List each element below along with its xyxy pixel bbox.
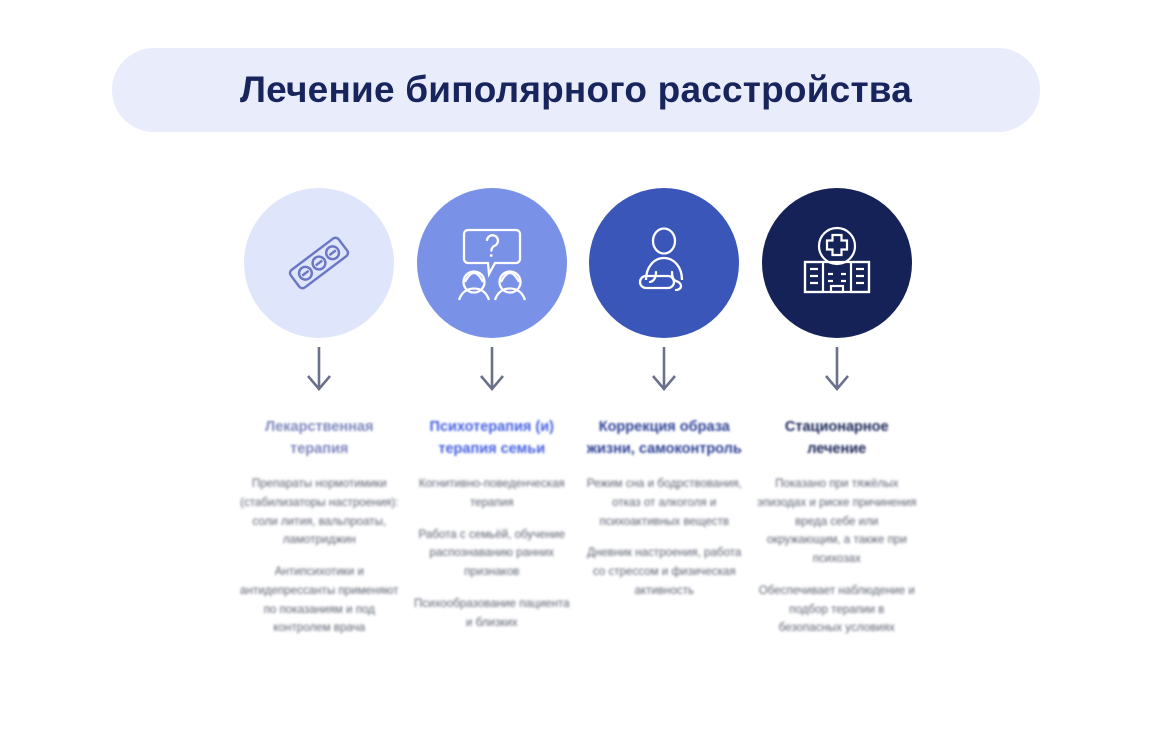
- column-heading-psychotherapy: Психотерапия (и) терапия семьи: [412, 416, 572, 461]
- page-title: Лечение биполярного расстройства: [240, 69, 912, 111]
- treatment-column-hospital: Стационарное лечение Показано при тяжёлы…: [751, 188, 924, 638]
- pill-blister-pack-icon: [280, 224, 358, 302]
- treatment-column-lifestyle: Коррекция образа жизни, самоконтроль Реж…: [578, 188, 751, 601]
- treatment-column-medication: Лекарственная терапия Препараты нормотим…: [233, 188, 406, 638]
- arrow-down-hospital: [822, 338, 852, 404]
- paragraph: Психообразование пациента и близких: [412, 595, 572, 633]
- circle-hospital: [762, 188, 912, 338]
- paragraph: Дневник настроения, работа со стрессом и…: [584, 544, 744, 600]
- column-heading-medication: Лекарственная терапия: [239, 416, 399, 461]
- column-body-psychotherapy: Когнитивно-поведенческая терапия Работа …: [412, 475, 572, 632]
- column-body-medication: Препараты нормотимики (стабилизаторы нас…: [239, 475, 399, 638]
- hospital-building-icon: [797, 224, 877, 302]
- paragraph: Режим сна и бодрствования, отказ от алко…: [584, 475, 744, 531]
- column-heading-hospital: Стационарное лечение: [757, 416, 917, 461]
- meditating-person-icon: [625, 224, 703, 302]
- paragraph: Показано при тяжёлых эпизодах и риске пр…: [757, 475, 917, 569]
- arrow-down-psychotherapy: [477, 338, 507, 404]
- paragraph: Антипсихотики и антидепрессанты применяю…: [239, 563, 399, 638]
- paragraph: Обеспечивает наблюдение и подбор терапии…: [757, 582, 917, 638]
- circle-psychotherapy: [417, 188, 567, 338]
- column-body-lifestyle: Режим сна и бодрствования, отказ от алко…: [584, 475, 744, 601]
- column-heading-lifestyle: Коррекция образа жизни, самоконтроль: [584, 416, 744, 461]
- title-banner: Лечение биполярного расстройства: [112, 48, 1040, 132]
- paragraph: Препараты нормотимики (стабилизаторы нас…: [239, 475, 399, 550]
- treatment-column-psychotherapy: Психотерапия (и) терапия семьи Когнитивн…: [406, 188, 579, 632]
- paragraph: Работа с семьёй, обучение распознаванию …: [412, 526, 572, 582]
- circle-lifestyle: [589, 188, 739, 338]
- column-body-hospital: Показано при тяжёлых эпизодах и риске пр…: [757, 475, 917, 638]
- treatment-columns: Лекарственная терапия Препараты нормотим…: [233, 188, 923, 638]
- circle-medication: [244, 188, 394, 338]
- two-people-speech-bubble-icon: [450, 224, 534, 302]
- arrow-down-medication: [304, 338, 334, 404]
- paragraph: Когнитивно-поведенческая терапия: [412, 475, 572, 513]
- arrow-down-lifestyle: [649, 338, 679, 404]
